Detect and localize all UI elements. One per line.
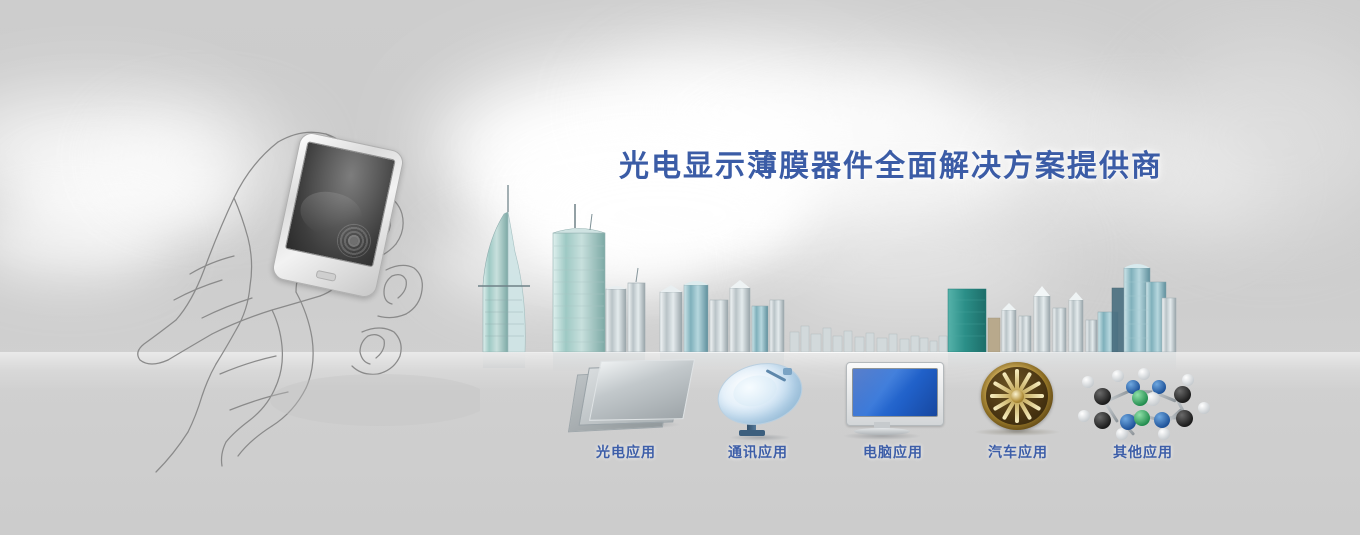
atom-carbon — [1176, 410, 1193, 427]
application-label: 通讯应用 — [683, 442, 833, 462]
application-label: 光电应用 — [551, 442, 701, 462]
wheel-rim — [986, 367, 1048, 425]
atom-hydrogen — [1082, 376, 1094, 388]
application-item-communication[interactable]: 通讯应用 — [683, 358, 833, 462]
promo-banner: 光电显示薄膜器件全面解决方案提供商 光电应用 — [0, 0, 1360, 535]
application-label: 其他应用 — [1068, 442, 1218, 462]
atom-hydrogen — [1182, 374, 1194, 386]
atom-hydrogen — [1078, 410, 1090, 422]
atom-carbon — [1174, 386, 1191, 403]
wheel-hub — [1011, 390, 1024, 403]
monitor-screen — [852, 368, 938, 417]
monitor-bezel — [846, 362, 944, 426]
glass-film-sheets-icon — [551, 358, 701, 436]
film-sheet-front — [589, 359, 695, 421]
atom-hydrogen — [1112, 370, 1124, 382]
atom-metal-center — [1134, 410, 1150, 426]
atom-carbon — [1094, 412, 1111, 429]
application-row: 光电应用 通讯应用 — [0, 0, 1360, 535]
screen-glare — [852, 368, 923, 417]
wheel-tire — [981, 362, 1053, 430]
application-item-optoelectronic[interactable]: 光电应用 — [551, 358, 701, 462]
dish-group — [713, 360, 805, 436]
atom-metal-center — [1132, 390, 1148, 406]
molecule-group — [1076, 358, 1210, 436]
atom-hydrogen — [1158, 428, 1170, 440]
molecule-model-icon — [1068, 358, 1218, 436]
dish-base — [739, 430, 765, 436]
monitor-base — [854, 428, 910, 435]
atom-carbon — [1094, 388, 1111, 405]
dish-lnb — [783, 368, 792, 375]
satellite-dish-icon — [683, 358, 833, 436]
application-item-other[interactable]: 其他应用 — [1068, 358, 1218, 462]
atom-hydrogen — [1146, 392, 1160, 406]
atom-hydrogen — [1138, 368, 1150, 380]
atom-nitrogen — [1154, 412, 1170, 428]
atom-hydrogen — [1198, 402, 1210, 414]
